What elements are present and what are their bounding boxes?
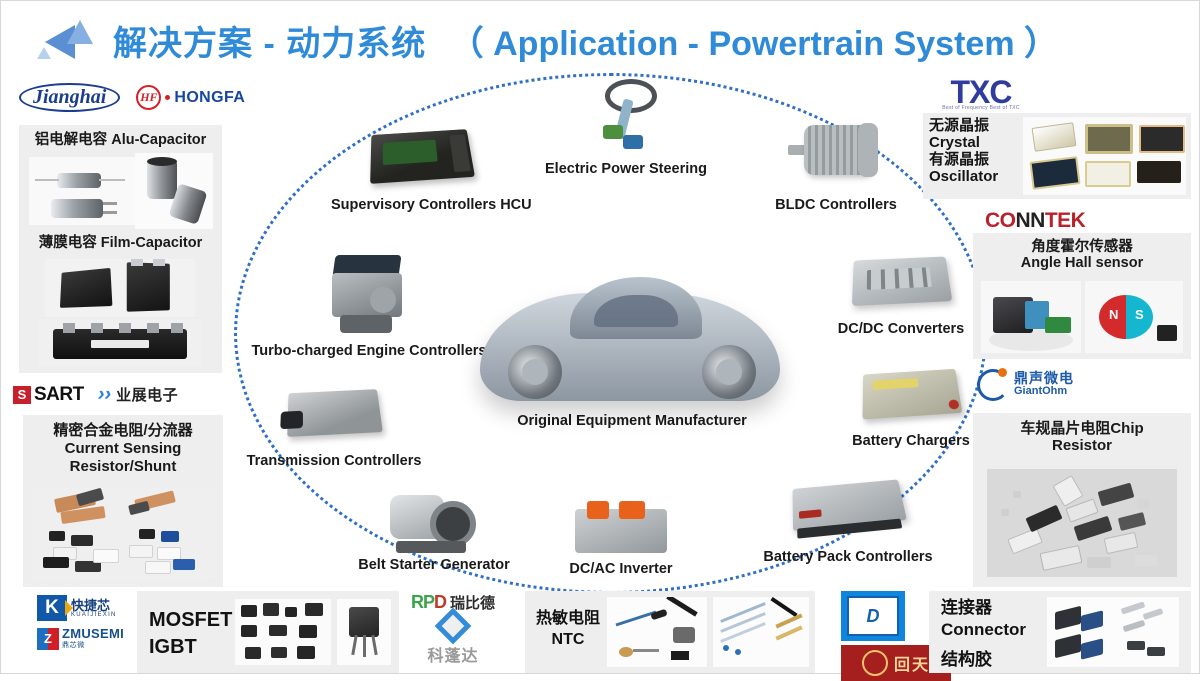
conntek-part2: NN [1016,209,1045,232]
node-original-equipment-manufacturer[interactable]: Original Equipment Manufacturer [471,249,793,429]
node-label: Turbo-charged Engine Controllers [244,343,494,359]
node-label: DC/DC Converters [821,321,981,337]
resistor-title-cn: 精密合金电阻/分流器 [23,415,223,440]
ntc-label-en: NTC [533,630,603,651]
battery-pack-controller-image [792,479,906,531]
chip-resistor-title-en: Resistor [973,438,1191,455]
hall-sensor-motor-photo [981,281,1081,353]
txc-line2-en: Oscillator [929,168,1023,185]
ntc-probes-photo [713,597,809,667]
dcac-inverter-image [575,501,667,557]
rpd-cn: 瑞比德 [450,595,495,612]
node-supervisory-controllers-hcu[interactable]: Supervisory Controllers HCU [331,129,511,213]
hongfa-wordmark: HONGFA [174,89,245,107]
hall-sensor-magnet-photo: N S [1085,281,1183,353]
film-capacitor-photo [45,259,195,317]
connector-photo [1047,597,1179,667]
zmusemi-en: ZMUSEMI [62,627,124,640]
belt-starter-generator-image [386,487,482,553]
kelongda-logo: 科蓬达 [399,613,507,666]
hall-sensor-title-cn: 角度霍尔传感器 [973,233,1191,255]
hongfa-dot-icon [165,95,170,100]
huitian-cn: 回天 [894,651,930,675]
node-electric-power-steering[interactable]: Electric Power Steering [536,79,716,177]
ntc-label: 热敏电阻 NTC [533,609,603,651]
film-capacitor-title: 薄膜电容 Film-Capacitor [19,235,222,251]
kuaijiexin-cn: 快捷芯 [71,599,117,612]
dcdc-converter-image [852,256,952,306]
zmusemi-cn: 鼎芯微 [62,640,124,650]
battery-charger-image [863,369,963,420]
giantohm-chip-resistor-panel: 车规晶片电阻Chip Resistor [973,413,1191,587]
node-label: BLDC Controllers [746,197,926,213]
igbt-label: IGBT [149,634,232,661]
txc-labels: 无源晶振 Crystal 有源晶振 Oscillator [923,113,1023,199]
left-brands-mid: S SART ›› 业展电子 [13,383,178,406]
conntek-part3: TEK [1045,209,1086,232]
alu-capacitor-photo-a [29,157,149,225]
hall-sensor-title-en: Angle Hall sensor [973,255,1191,271]
page-title-en: （ Application - Powertrain System ） [450,25,1058,63]
yezhan-logo: ›› 业展电子 [98,383,178,406]
magnet-n-label: N [1109,307,1118,322]
ntc-sensors-photo [607,597,707,667]
huitian-mark-icon [862,650,888,676]
node-battery-chargers[interactable]: Battery Chargers [831,369,991,449]
triangle-mountain-logo-icon [35,14,107,66]
left-brands-top: Jianghai HF HONGFA [19,83,245,112]
electric-power-steering-image [589,79,663,157]
igbt-module-photo [39,319,201,367]
page-title-cn: 解决方案 - 动力系统 [113,25,426,63]
turbo-engine-image [326,253,412,339]
kelongda-cn: 科蓬达 [399,642,507,666]
node-label: Battery Pack Controllers [753,549,943,565]
zmusemi-logo: Z ZMUSEMI 鼎芯微 [37,627,124,650]
adhesive-label-cn: 结构胶 [941,645,992,670]
page-title-bar: 解决方案 - 动力系统 （ Application - Powertrain S… [1,9,1200,71]
node-turbo-charged-engine-controllers[interactable]: Turbo-charged Engine Controllers [244,253,494,359]
node-bldc-controllers[interactable]: BLDC Controllers [746,121,926,213]
resistor-title-en-2: Resistor/Shunt [23,458,223,476]
ntc-panel: 热敏电阻 NTC [525,591,815,673]
magnet-s-label: S [1135,307,1144,322]
igbt-photo [337,599,391,665]
sart-logo: S SART [13,384,84,406]
connector-label: 连接器 Connector [941,597,1026,641]
giantohm-en: GiantOhm [1014,385,1074,398]
transmission-controller-image [287,389,383,437]
chip-resistor-title-cn: 车规晶片电阻Chip [973,413,1191,438]
txc-logo: TXC Best of Frequency Best of TXC [931,79,1031,110]
txc-line1-cn: 无源晶振 [929,117,1023,134]
txc-products-photo [1023,117,1186,195]
connector-label-en: Connector [941,619,1026,641]
txc-line2-cn: 有源晶振 [929,151,1023,168]
sart-wordmark: SART [34,384,84,406]
node-dcdc-converters[interactable]: DC/DC Converters [821,255,981,337]
txc-crystal-panel: 无源晶振 Crystal 有源晶振 Oscillator [923,113,1191,199]
hongfa-logo: HF HONGFA [136,85,245,110]
mosfet-brand-logos: K 快捷芯 KUAIJIEXIN Z ZMUSEMI 鼎芯微 [37,595,124,650]
kuaijiexin-mark-icon: K [37,595,67,621]
ntc-brand-logos: RPD 瑞比德 科蓬达 [399,593,507,666]
node-label: Belt Starter Generator [349,557,519,573]
txc-tagline: Best of Frequency Best of TXC [931,106,1031,110]
yezhan-mark-icon: ›› [95,383,113,406]
alu-capacitor-photo-b [135,153,213,229]
giantohm-mark-icon [977,369,1009,401]
slide-canvas: 解决方案 - 动力系统 （ Application - Powertrain S… [0,0,1200,674]
chip-resistor-photo [987,469,1177,577]
conntek-hall-sensor-panel: 角度霍尔传感器 Angle Hall sensor N S [973,233,1191,359]
node-belt-starter-generator[interactable]: Belt Starter Generator [349,487,519,573]
kelongda-mark-icon [435,608,472,645]
mosfet-photo [235,599,331,665]
node-transmission-controllers[interactable]: Transmission Controllers [237,389,431,469]
bottom-supplier-strip: K 快捷芯 KUAIJIEXIN Z ZMUSEMI 鼎芯微 MOSFET IG… [1,589,1200,675]
connector-panel: 连接器 Connector 结构胶 [929,591,1191,673]
capacitor-panel: 铝电解电容 Alu-Capacitor 薄膜电容 Film-Capacitor [19,125,222,373]
conntek-part1: CO [985,209,1016,232]
bldc-motor-image [788,121,884,179]
sart-mark-icon: S [13,386,31,404]
current-sensing-resistor-panel: 精密合金电阻/分流器 Current Sensing Resistor/Shun… [23,415,223,587]
page-title: 解决方案 - 动力系统 （ Application - Powertrain S… [113,16,1058,65]
mosfet-igbt-label: MOSFET IGBT [149,607,232,661]
txc-line1-en: Crystal [929,134,1023,151]
node-label: Supervisory Controllers HCU [331,197,511,213]
giantohm-logo: 鼎声微电 GiantOhm [977,369,1074,401]
node-label: Battery Chargers [831,433,991,449]
conntek-logo: CONNTEK [985,209,1085,233]
node-label: Transmission Controllers [237,453,431,469]
kuaijiexin-en: KUAIJIEXIN [71,612,117,618]
connector-label-cn: 连接器 [941,597,1026,619]
zmusemi-mark-icon: Z [37,628,59,650]
resistor-title-en-1: Current Sensing [23,440,223,458]
connector-brand-logo: D [841,591,905,641]
node-battery-pack-controllers[interactable]: Battery Pack Controllers [753,481,943,565]
ntc-label-cn: 热敏电阻 [533,609,603,630]
yezhan-wordmark: 业展电子 [116,384,178,405]
supervisory-controller-image [370,129,475,184]
jianghai-logo: Jianghai [19,83,120,112]
mosfet-igbt-panel: MOSFET IGBT [137,591,399,673]
kuaijiexin-logo: K 快捷芯 KUAIJIEXIN [37,595,117,621]
giantohm-cn: 鼎声微电 [1014,371,1074,385]
hongfa-mark-icon: HF [136,85,161,110]
node-label: DC/AC Inverter [546,561,696,577]
resistor-photo [31,487,215,581]
mosfet-label: MOSFET [149,607,232,634]
alu-capacitor-title: 铝电解电容 Alu-Capacitor [19,125,222,148]
node-dcac-inverter[interactable]: DC/AC Inverter [546,501,696,577]
vehicle-cutaway-image [474,249,790,421]
node-label: Electric Power Steering [536,161,716,177]
